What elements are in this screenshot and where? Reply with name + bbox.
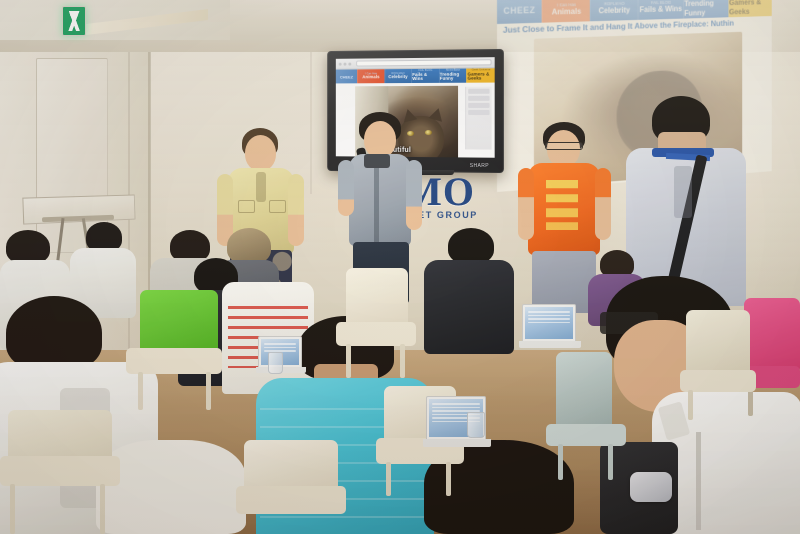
nav-title: Animals	[362, 75, 379, 79]
shirt-placket	[374, 158, 379, 242]
chair-back	[140, 290, 218, 352]
shirt-pocket-left	[238, 200, 255, 213]
nav-title: Gamers & Geeks	[468, 72, 495, 81]
arm-right	[288, 174, 304, 246]
chair-leg	[100, 484, 105, 534]
chair-leg	[10, 484, 15, 534]
tshirt-graphic	[546, 180, 578, 230]
shirt-pocket-right	[269, 200, 286, 213]
chair-cream-center	[336, 268, 416, 378]
hair	[6, 296, 102, 370]
site-logo[interactable]: CHEEZ	[336, 69, 357, 83]
sidebar-row	[468, 89, 489, 94]
arm-left	[518, 168, 534, 240]
chair-cream-foreground	[236, 440, 346, 534]
nav-title: Celebrity	[388, 75, 407, 80]
shirt-back-pleat	[674, 166, 692, 218]
screen-content-lines	[528, 311, 570, 325]
chair-leg	[558, 444, 563, 480]
nav-title: Gamers & Geeks	[729, 0, 772, 16]
shirt-placket	[696, 432, 701, 530]
chair-back	[556, 352, 612, 430]
projection-nav-item-geeks: Geek Universe Gamers & Geeks	[728, 0, 772, 17]
head	[245, 135, 276, 171]
chair-cream-right	[680, 310, 756, 420]
cat-ear-right	[429, 106, 446, 121]
nav-title: Trending Funny	[684, 0, 728, 17]
chair-leg	[446, 462, 451, 496]
nav-title: Celebrity	[599, 6, 630, 16]
site-nav-bar[interactable]: CHEEZ I Can Has Animals ROFLMAO Celebrit…	[336, 68, 495, 83]
chair-back	[8, 410, 112, 460]
chair-back	[686, 310, 750, 374]
arm-left	[338, 160, 354, 216]
chair-leg	[386, 462, 391, 496]
drink-cup-left	[268, 352, 283, 374]
chair-leg	[608, 444, 613, 480]
projection-nav-item-fails: FAIL BLOG Fails & Wins	[637, 0, 683, 20]
chair-seat	[336, 322, 416, 346]
chair-seat	[236, 486, 346, 514]
projection-site-logo: CHEEZ	[497, 0, 542, 24]
nav-item-geeks[interactable]: Geek Universe Gamers & Geeks	[467, 68, 495, 82]
laptop-base	[423, 439, 491, 447]
chair-back	[346, 268, 408, 326]
chair-seat	[0, 456, 120, 486]
drink-cup-center	[467, 412, 485, 438]
wristwatch	[630, 472, 672, 502]
laptop-screen	[525, 307, 573, 339]
head	[364, 121, 396, 158]
projection-nav-item-trending: MemeBase Trending Funny	[683, 0, 728, 19]
site-sidebar	[465, 87, 491, 150]
chair-mint-center	[546, 352, 626, 480]
nav-title: Fails & Wins	[412, 73, 439, 82]
projection-nav-item-celebrity: ROFLMAO Celebrity	[590, 0, 637, 21]
laptop-right[interactable]	[522, 304, 580, 352]
browser-address-bar[interactable]	[356, 59, 491, 66]
nav-item-fails[interactable]: FAIL BLOG Fails & Wins	[411, 69, 439, 83]
nav-item-animals[interactable]: I Can Has Animals	[357, 69, 384, 83]
attendee-black-tee-center	[424, 228, 514, 354]
laptop-base	[519, 341, 581, 348]
emergency-exit-sign-icon	[62, 6, 86, 36]
shirt-placket	[256, 172, 266, 202]
hair	[448, 228, 494, 264]
running-man-exit-icon	[67, 11, 81, 31]
browser-reload-icon[interactable]	[348, 62, 351, 65]
chair-leg	[206, 372, 211, 410]
chair-leg	[400, 344, 405, 378]
eyeglasses-icon	[545, 142, 583, 150]
chair-cream-left	[0, 410, 120, 534]
browser-back-icon[interactable]	[339, 62, 342, 65]
nav-title: Trending Funny	[440, 72, 467, 81]
nav-item-celebrity[interactable]: ROFLMAO Celebrity	[384, 69, 411, 83]
chair-green-left	[126, 290, 222, 410]
hair	[6, 230, 50, 264]
undershirt-collar	[364, 154, 390, 168]
projection-nav-item-animals: I Can Has Animals	[542, 0, 591, 23]
chair-seat	[680, 370, 756, 392]
chair-back	[244, 440, 338, 490]
presentation-room-photo: CHEEZ I Can Has Animals ROFLMAO Celebrit…	[0, 0, 800, 534]
sidebar-row	[468, 110, 489, 115]
chair-seat	[546, 424, 626, 446]
wall-seam	[310, 44, 312, 194]
arm-right	[406, 160, 422, 230]
black-tshirt	[424, 260, 514, 354]
sidebar-row	[468, 96, 489, 101]
chair-seat	[126, 348, 222, 374]
arm-right	[595, 168, 611, 240]
chair-leg	[138, 372, 143, 410]
nav-title: Animals	[552, 7, 581, 17]
chair-leg	[688, 390, 693, 420]
chair-leg	[346, 344, 351, 378]
nav-title: Fails & Wins	[640, 4, 682, 14]
nav-item-trending[interactable]: MemeBase Trending Funny	[439, 69, 467, 83]
browser-forward-icon[interactable]	[344, 62, 347, 65]
laptop-lid	[522, 304, 576, 342]
sidebar-row	[468, 103, 489, 108]
